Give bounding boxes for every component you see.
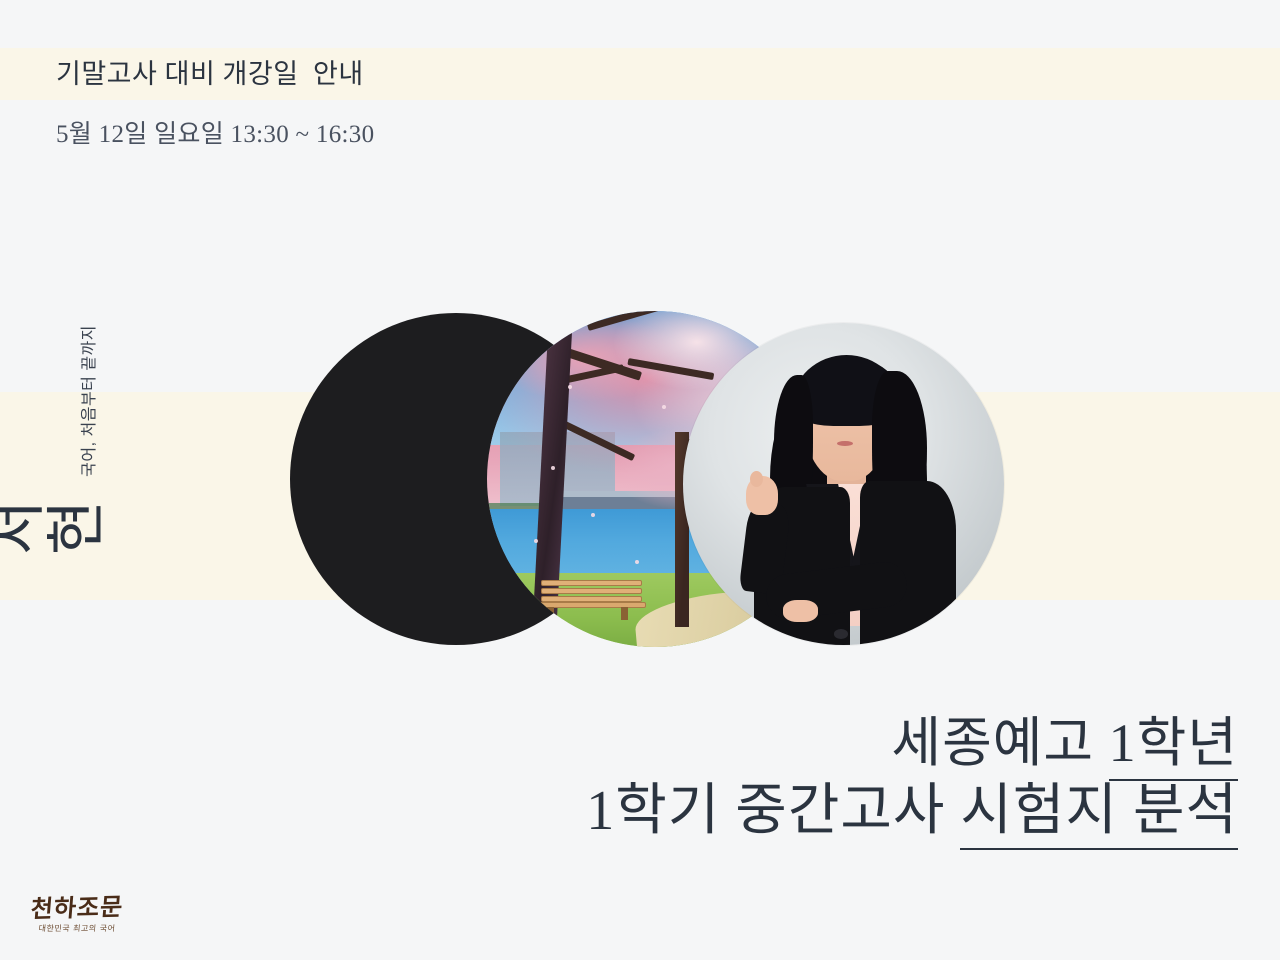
scene-petal [591, 513, 595, 517]
scene-petal [568, 385, 572, 389]
portrait-jacket-button [834, 629, 848, 639]
headline-line-1: 세종예고 1학년 [418, 712, 1238, 776]
headline-line-2: 1학기 중간고사 시험지 분석 [418, 778, 1238, 844]
portrait-lower-hand [783, 600, 818, 623]
headline-block: 세종예고 1학년 1학기 중간고사 시험지 분석 [418, 712, 1238, 844]
scene-park-bench [541, 580, 642, 617]
brand-logo-wordmark: 천하조문 [21, 895, 133, 923]
bench-slat [541, 580, 642, 586]
scene-petal [635, 560, 639, 564]
scene-petal [551, 466, 555, 470]
bench-slat [541, 588, 642, 594]
brand-logo: 천하조문 대한민국 최고의 국어 [22, 896, 132, 934]
portrait-mouth [837, 441, 853, 446]
portrait-figure [683, 323, 1004, 645]
headline-line2-plain: 1학기 중간고사 [586, 780, 960, 842]
bench-leg [547, 607, 554, 620]
headline-line1-plain: 세종예고 [891, 713, 1108, 773]
headline-line2-underlined: 시험지 분석 [960, 780, 1238, 850]
headline-line1-underlined: 1학년 [1109, 713, 1238, 781]
bench-leg [621, 607, 628, 620]
instructor-portrait-circle [683, 323, 1004, 645]
brand-logo-subtext: 대한민국 최고의 국어 [22, 923, 133, 934]
scene-petal [662, 405, 666, 409]
